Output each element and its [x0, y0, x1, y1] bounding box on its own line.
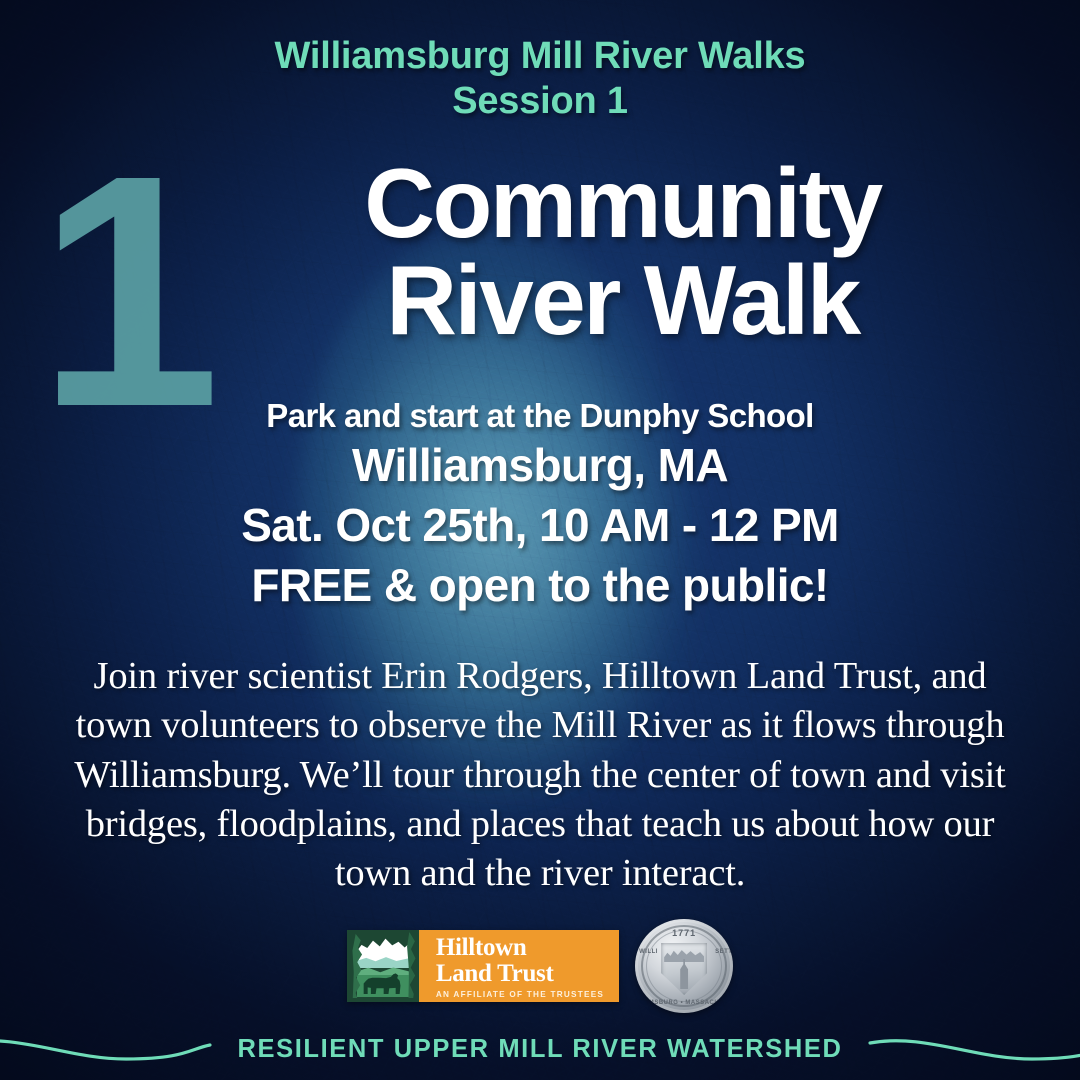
footer-bar: RESILIENT UPPER MILL RIVER WATERSHED	[0, 1018, 1080, 1080]
footer-label: RESILIENT UPPER MILL RIVER WATERSHED	[238, 1035, 843, 1064]
hilltown-word-1: Hilltown	[436, 935, 604, 961]
event-details: Park and start at the Dunphy School Will…	[0, 397, 1080, 615]
hilltown-land-trust-logo: Hilltown Land Trust AN AFFILIATE OF THE …	[347, 930, 619, 1002]
title-line-1: Community	[175, 155, 1070, 252]
event-description: Join river scientist Erin Rodgers, Hillt…	[58, 652, 1022, 898]
title-line-2: River Walk	[175, 252, 1070, 349]
wave-right-icon	[864, 1029, 1080, 1069]
seal-text-left: WILLI	[639, 949, 653, 955]
detail-meeting-point: Park and start at the Dunphy School	[0, 397, 1080, 436]
hilltown-tagline: AN AFFILIATE OF THE TRUSTEES	[436, 990, 604, 999]
seal-text-right: SETTS	[715, 949, 729, 955]
wave-left-icon	[0, 1029, 216, 1069]
detail-town: Williamsburg, MA	[0, 436, 1080, 496]
hilltown-wordmark: Hilltown Land Trust AN AFFILIATE OF THE …	[419, 930, 619, 1002]
williamsburg-town-seal-icon: 1771 WILLI SETTS AMSBURG • MASSACHU	[635, 919, 733, 1013]
seal-year: 1771	[635, 928, 733, 938]
page-title: Community River Walk	[175, 155, 1070, 349]
seal-text-bottom: AMSBURG • MASSACHU	[638, 999, 731, 1006]
logo-row: Hilltown Land Trust AN AFFILIATE OF THE …	[0, 916, 1080, 1016]
poster-canvas: Williamsburg Mill River Walks Session 1 …	[0, 0, 1080, 1080]
detail-price: FREE & open to the public!	[0, 556, 1080, 616]
detail-datetime: Sat. Oct 25th, 10 AM - 12 PM	[0, 496, 1080, 556]
hilltown-word-2: Land Trust	[436, 961, 604, 987]
bear-landscape-icon	[347, 930, 419, 1002]
header-line-1: Williamsburg Mill River Walks	[275, 35, 806, 77]
